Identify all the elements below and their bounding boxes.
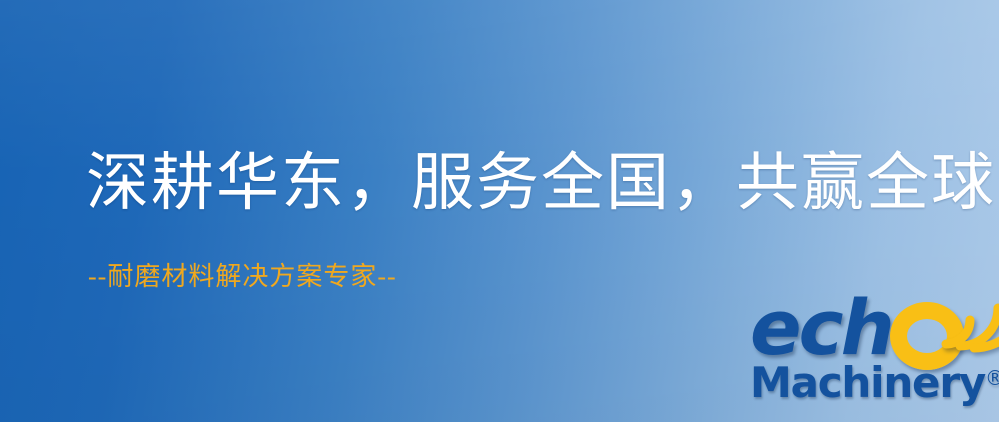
banner-headline: 深耕华东，服务全国，共赢全球 <box>86 152 996 215</box>
logo-tagline: Machinery® <box>750 362 999 404</box>
logo-wordmark-ech: ech <box>750 290 892 366</box>
signal-waves-icon <box>934 284 999 356</box>
banner-subtitle: --耐磨材料解决方案专家-- <box>88 264 397 290</box>
echo-machinery-logo[interactable]: ech Machinery® <box>748 296 996 422</box>
registered-trademark-icon: ® <box>985 366 999 390</box>
logo-tagline-text: Machinery <box>750 358 985 407</box>
hero-banner: 深耕华东，服务全国，共赢全球 --耐磨材料解决方案专家-- ech Machin… <box>0 0 999 422</box>
